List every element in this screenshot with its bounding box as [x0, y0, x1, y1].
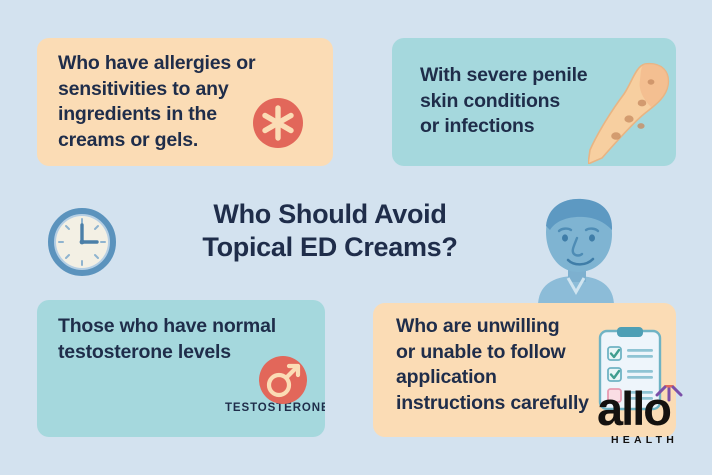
- person-illustration: [528, 196, 624, 306]
- page-title: Who Should Avoid Topical ED Creams?: [150, 198, 510, 264]
- allo-tagline: HEALTH: [611, 434, 678, 446]
- penis-illustration: [588, 58, 674, 164]
- clock-icon: [47, 207, 117, 277]
- infographic-canvas: Who have allergies or sensitivities to a…: [0, 0, 712, 475]
- allo-health-logo: allo HEALTH: [597, 385, 709, 447]
- male-symbol-badge-icon: [258, 355, 308, 405]
- allo-wordmark: allo: [597, 385, 670, 432]
- asterisk-badge-icon: [252, 97, 304, 149]
